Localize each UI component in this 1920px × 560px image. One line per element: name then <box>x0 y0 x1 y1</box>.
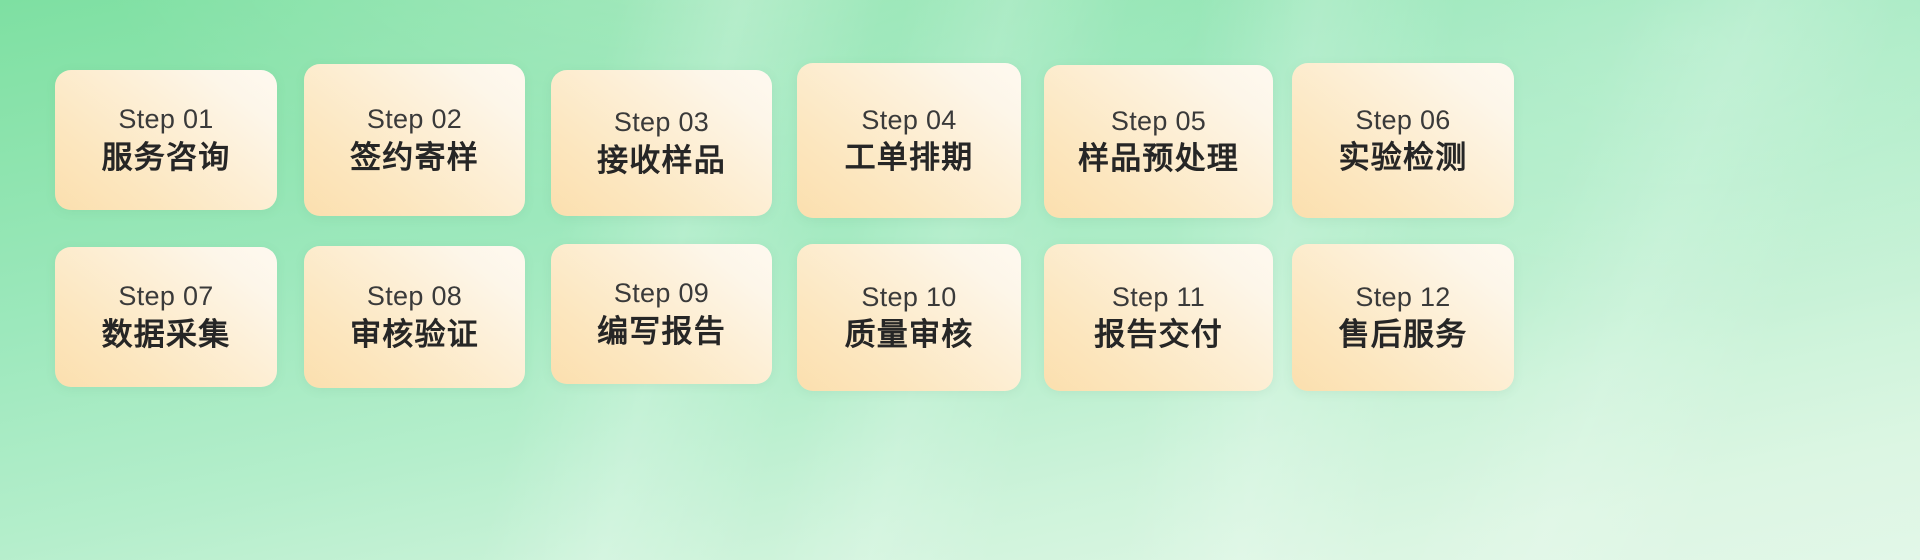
step-card[interactable]: Step 07 数据采集 <box>55 247 277 387</box>
step-card[interactable]: Step 10 质量审核 <box>797 244 1021 391</box>
step-card-title: 编写报告 <box>597 312 726 351</box>
step-card[interactable]: Step 02 签约寄样 <box>304 64 525 216</box>
step-card-title: 审核验证 <box>350 315 479 354</box>
step-card-title: 签约寄样 <box>350 138 479 177</box>
step-card[interactable]: Step 09 编写报告 <box>551 244 772 384</box>
infographic-canvas: Step 01 服务咨询 Step 02 签约寄样 Step 03 接收样品 S… <box>0 0 1920 560</box>
step-card-number: Step 02 <box>367 103 462 136</box>
step-card-number: Step 11 <box>1112 281 1205 314</box>
step-card-number: Step 03 <box>614 106 709 139</box>
step-card[interactable]: Step 04 工单排期 <box>797 63 1021 218</box>
step-card-number: Step 05 <box>1111 105 1206 138</box>
step-card-number: Step 10 <box>861 281 956 314</box>
step-card-title: 实验检测 <box>1339 138 1468 177</box>
step-card-number: Step 06 <box>1355 104 1450 137</box>
step-card[interactable]: Step 11 报告交付 <box>1044 244 1273 391</box>
step-card[interactable]: Step 05 样品预处理 <box>1044 65 1273 218</box>
step-card-title: 样品预处理 <box>1078 139 1239 178</box>
step-card-number: Step 04 <box>861 104 956 137</box>
step-card-number: Step 09 <box>614 277 709 310</box>
step-card[interactable]: Step 01 服务咨询 <box>55 70 277 210</box>
step-card-title: 服务咨询 <box>102 138 231 177</box>
step-card-grid: Step 01 服务咨询 Step 02 签约寄样 Step 03 接收样品 S… <box>0 0 1920 560</box>
step-card-title: 数据采集 <box>102 315 231 354</box>
step-card[interactable]: Step 08 审核验证 <box>304 246 525 388</box>
step-card-number: Step 01 <box>118 103 213 136</box>
step-card-title: 接收样品 <box>597 141 726 180</box>
step-card-title: 质量审核 <box>845 315 974 354</box>
step-card[interactable]: Step 12 售后服务 <box>1292 244 1514 391</box>
step-card[interactable]: Step 03 接收样品 <box>551 70 772 216</box>
step-card[interactable]: Step 06 实验检测 <box>1292 63 1514 218</box>
step-card-number: Step 08 <box>367 280 462 313</box>
step-card-title: 售后服务 <box>1339 315 1468 354</box>
step-card-number: Step 07 <box>118 280 213 313</box>
step-card-title: 工单排期 <box>845 138 974 177</box>
step-card-title: 报告交付 <box>1094 315 1223 354</box>
step-card-number: Step 12 <box>1355 281 1450 314</box>
